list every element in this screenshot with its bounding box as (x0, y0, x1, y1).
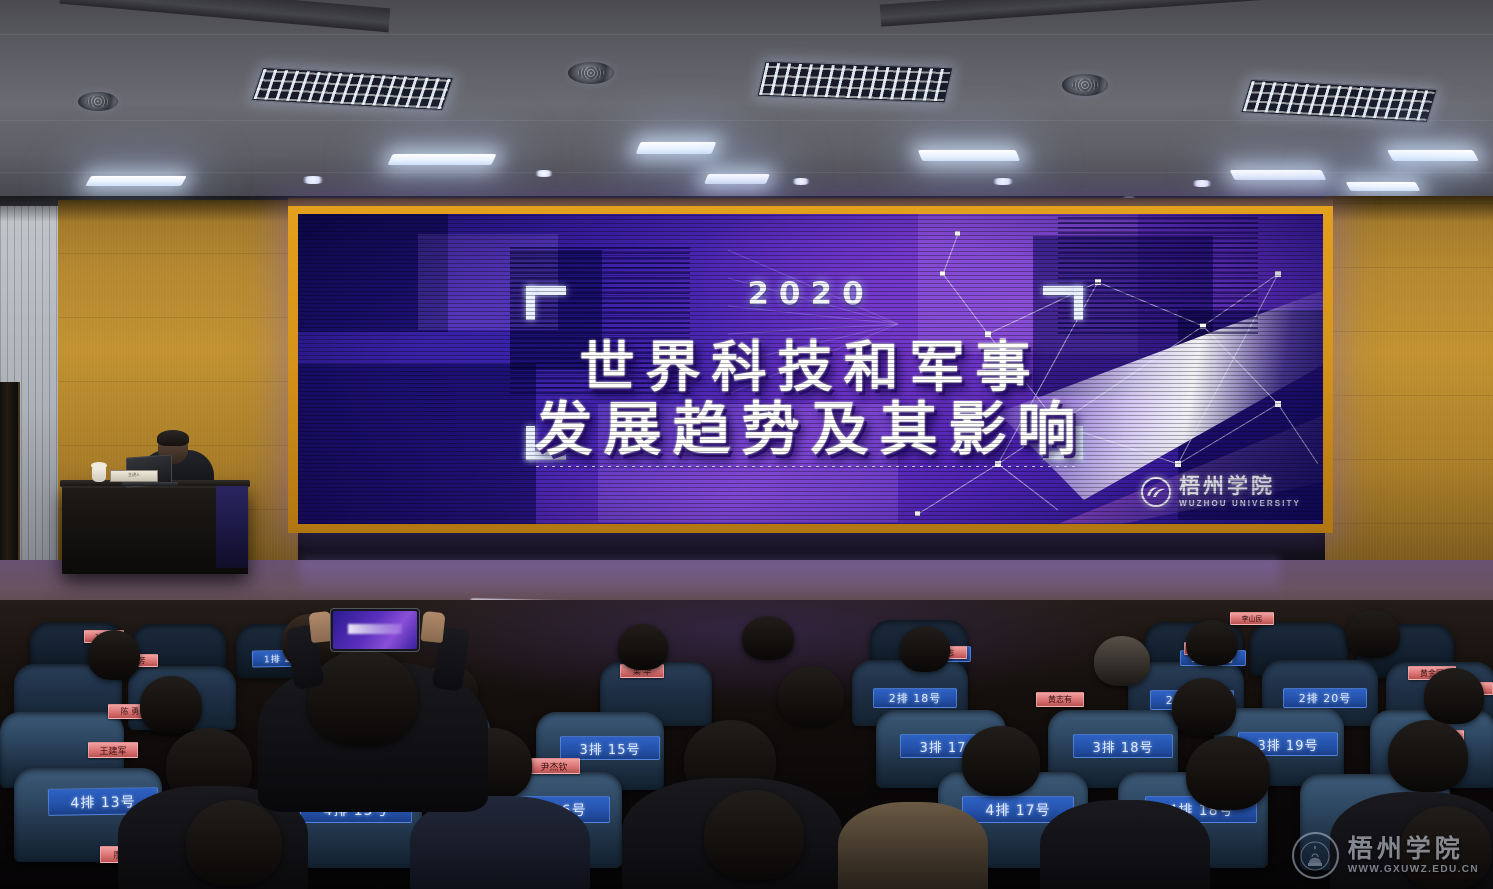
logo-name-en: WUZHOU UNIVERSITY (1179, 500, 1301, 508)
ceiling-speaker (568, 62, 614, 84)
ceiling-light-panel (251, 67, 454, 111)
attendee-head (1424, 668, 1484, 724)
attendee-head (742, 616, 794, 660)
watermark-name: 梧州学院 (1348, 836, 1479, 861)
attendee-head (1186, 620, 1238, 666)
ceiling-light-panel (757, 61, 954, 104)
attendee-head (1346, 610, 1400, 658)
photographer-head (308, 650, 418, 746)
logo-name-cn: 梧州学院 (1179, 476, 1301, 497)
attendee-head (778, 666, 844, 726)
podium-side-panel (216, 486, 248, 568)
attendee-head (186, 800, 282, 886)
ceiling-strip-light (918, 150, 1020, 161)
ceiling-strip-light (1230, 170, 1327, 180)
laptop-base (122, 482, 178, 486)
attendee-head (1172, 678, 1236, 736)
photographer-hand-right (420, 611, 445, 643)
attendee-name-tag: 黄志有 (1036, 692, 1084, 707)
attendee-shoulders (1040, 800, 1210, 889)
attendee-name-tag: 李山民 (1230, 612, 1274, 625)
attendee-head (618, 624, 668, 670)
attendee-shoulders (838, 802, 988, 889)
audience-seating: 1排 21号1排 17号1排 19号2排 18号2排 19号2排 20号3排 1… (0, 600, 1493, 889)
ceiling-strip-light (85, 176, 187, 186)
led-screen-frame: 2020 世界科技和军事 发展趋势及其影响 梧州学院 WUZHOU UNIVER… (288, 206, 1333, 533)
screen-title-line-2: 发展趋势及其影响 (298, 382, 1323, 466)
attendee-head (140, 676, 202, 734)
teacup-lid (91, 462, 107, 469)
watermark-url: WWW.GXUWZ.EDU.CN (1348, 865, 1479, 875)
ceiling-strip-light (636, 142, 717, 154)
ceiling-strip-light (1346, 182, 1421, 191)
screen-university-logo: 梧州学院 WUZHOU UNIVERSITY (1141, 476, 1301, 508)
ceiling-strip-light (387, 154, 496, 165)
seat-number-plate: 3排 18号 (1073, 734, 1173, 758)
led-screen: 2020 世界科技和军事 发展趋势及其影响 梧州学院 WUZHOU UNIVER… (298, 214, 1323, 524)
watermark: 梧州学院 WWW.GXUWZ.EDU.CN (1292, 832, 1479, 879)
smartphone-screen (333, 611, 417, 649)
screen-year: 2020 (298, 276, 1323, 312)
ceiling-duct (880, 0, 1301, 27)
ceiling-speaker (78, 92, 118, 111)
attendee-head (704, 790, 804, 880)
attendee-head (1186, 736, 1270, 810)
smartphone[interactable] (330, 608, 420, 652)
attendee-name-tag: 尹杰钦 (528, 758, 580, 774)
attendee-head (1094, 636, 1150, 686)
attendee-name-tag: 王建军 (88, 742, 138, 758)
ceiling-light-panel (1240, 79, 1438, 123)
seat-number-plate: 2排 20号 (1283, 688, 1367, 708)
wall-wood-right (1325, 196, 1493, 588)
ceiling-strip-light (704, 174, 770, 184)
seat-number-plate: 3排 15号 (560, 736, 660, 760)
attendee-head (962, 726, 1040, 796)
university-emblem-icon (1141, 477, 1171, 507)
doorway-left (0, 382, 20, 572)
lecture-hall-photo: 2020 世界科技和军事 发展趋势及其影响 梧州学院 WUZHOU UNIVER… (0, 0, 1493, 889)
ceiling-strip-light (1387, 150, 1479, 161)
ceiling-speaker (1062, 74, 1108, 96)
seat-number-plate: 2排 18号 (873, 688, 957, 708)
attendee-head (900, 626, 950, 672)
ceiling (0, 0, 1493, 215)
speaker-hair (157, 430, 189, 446)
podium-nameplate: 主讲人 (110, 470, 158, 482)
attendee-head (1388, 720, 1468, 792)
university-seal-icon (1292, 832, 1339, 879)
attendee-head (88, 630, 140, 680)
ceiling-duct (60, 0, 391, 32)
